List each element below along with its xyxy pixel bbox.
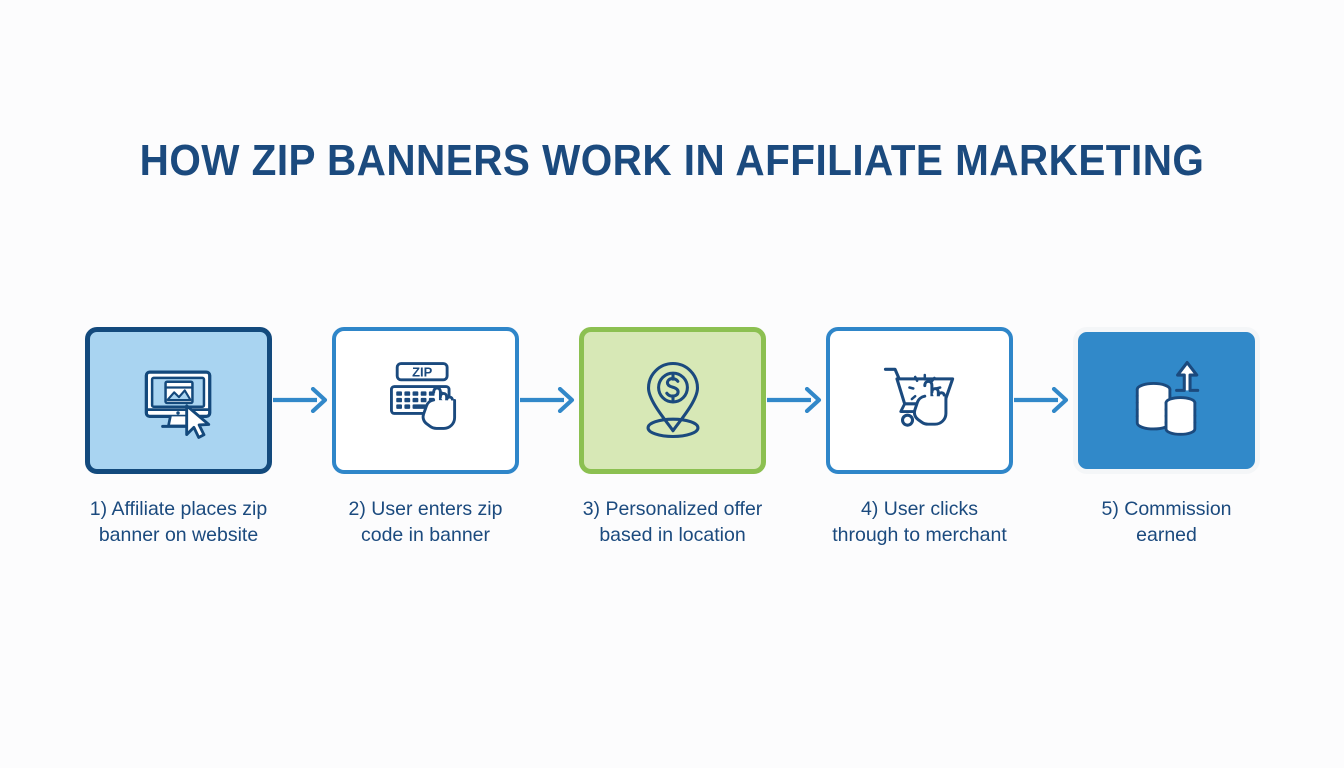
arrow-right-icon bbox=[273, 387, 331, 413]
svg-text:ZIP: ZIP bbox=[412, 364, 433, 379]
keyboard-zip-hand-icon: ZIP bbox=[378, 352, 474, 448]
caption-spacer bbox=[766, 496, 826, 548]
step-2-card[interactable]: ZIP bbox=[332, 327, 519, 474]
flow-step-5[interactable] bbox=[1073, 327, 1260, 474]
arrow-right-icon bbox=[767, 387, 825, 413]
process-flow: ZIP bbox=[85, 325, 1260, 475]
flow-step-1[interactable] bbox=[85, 327, 272, 474]
step-4-card[interactable] bbox=[826, 327, 1013, 474]
step-4-caption: 4) User clicks through to merchant bbox=[826, 496, 1013, 548]
arrow-2-3 bbox=[519, 385, 579, 415]
arrow-4-5 bbox=[1013, 385, 1073, 415]
step-captions: 1) Affiliate places zip banner on websit… bbox=[85, 496, 1260, 548]
step-5-caption: 5) Commission earned bbox=[1073, 496, 1260, 548]
arrow-3-4 bbox=[766, 385, 826, 415]
coin-stacks-arrow-up-icon bbox=[1119, 352, 1215, 448]
flow-step-4[interactable] bbox=[826, 327, 1013, 474]
monitor-banner-cursor-icon bbox=[131, 352, 227, 448]
step-3-caption: 3) Personalized offer based in location bbox=[579, 496, 766, 548]
caption-spacer bbox=[519, 496, 579, 548]
caption-spacer bbox=[1013, 496, 1073, 548]
page-title: HOW ZIP BANNERS WORK IN AFFILIATE MARKET… bbox=[54, 136, 1290, 186]
arrow-right-icon bbox=[1014, 387, 1072, 413]
step-5-card[interactable] bbox=[1073, 327, 1260, 474]
location-pin-dollar-icon bbox=[625, 352, 721, 448]
arrow-right-icon bbox=[520, 387, 578, 413]
infographic-canvas: HOW ZIP BANNERS WORK IN AFFILIATE MARKET… bbox=[0, 0, 1344, 768]
step-3-card[interactable] bbox=[579, 327, 766, 474]
step-2-caption: 2) User enters zip code in banner bbox=[332, 496, 519, 548]
flow-step-3[interactable] bbox=[579, 327, 766, 474]
step-1-caption: 1) Affiliate places zip banner on websit… bbox=[85, 496, 272, 548]
arrow-1-2 bbox=[272, 385, 332, 415]
flow-step-2[interactable]: ZIP bbox=[332, 327, 519, 474]
step-1-card[interactable] bbox=[85, 327, 272, 474]
caption-spacer bbox=[272, 496, 332, 548]
shopping-cart-click-icon bbox=[872, 352, 968, 448]
